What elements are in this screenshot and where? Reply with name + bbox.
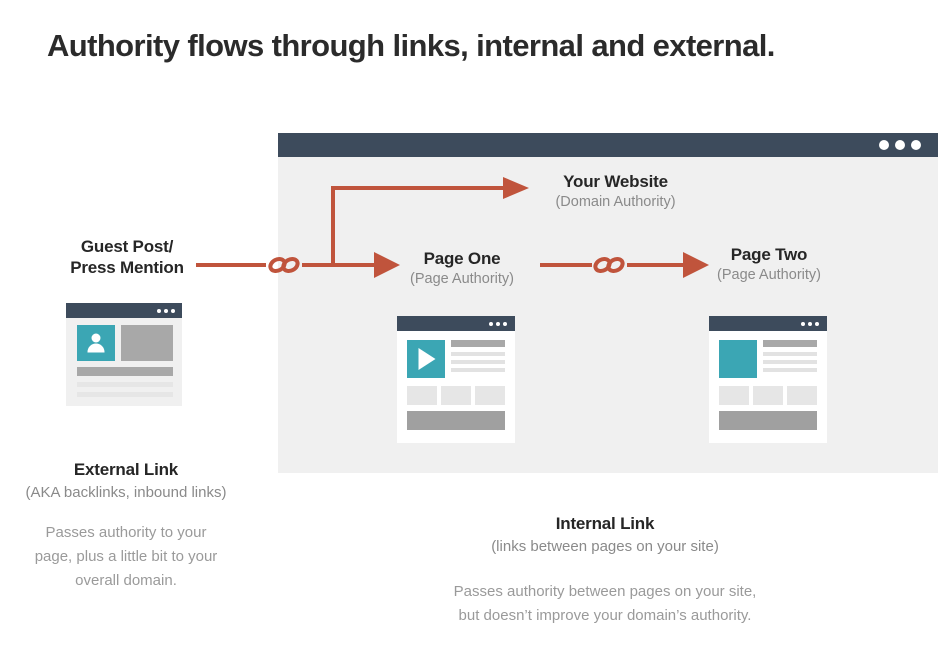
content-bar <box>763 352 817 356</box>
avatar-thumbnail <box>77 325 115 361</box>
content-card <box>407 386 437 405</box>
browser-titlebar <box>278 133 938 157</box>
content-footer-bar <box>719 411 817 430</box>
page-title: Authority flows through links, internal … <box>47 28 775 64</box>
mockup-titlebar <box>397 316 515 331</box>
content-bar <box>451 360 505 364</box>
play-icon <box>418 348 435 370</box>
content-card <box>475 386 505 405</box>
node-label-your-website: Your Website (Domain Authority) <box>513 171 718 212</box>
node-label-page-two: Page Two (Page Authority) <box>690 244 848 285</box>
your-website-title: Your Website <box>513 171 718 192</box>
internal-link-heading: Internal Link <box>370 512 840 535</box>
mockup-titlebar <box>66 303 182 318</box>
external-desc-line2: page, plus a little bit to your <box>6 545 246 569</box>
page-one-title: Page One <box>383 248 541 269</box>
node-label-page-one: Page One (Page Authority) <box>383 248 541 289</box>
window-controls-dots-icon <box>157 309 175 313</box>
node-label-guest-post: Guest Post/ Press Mention <box>47 236 207 278</box>
page-one-site-mockup <box>397 316 515 443</box>
guest-post-line2: Press Mention <box>47 257 207 278</box>
content-bar <box>451 340 505 347</box>
window-controls-dots-icon <box>801 322 819 326</box>
content-card <box>719 386 749 405</box>
content-block <box>121 325 173 361</box>
content-card <box>753 386 783 405</box>
content-bar <box>763 368 817 372</box>
image-thumbnail <box>719 340 757 378</box>
content-bar <box>77 382 173 387</box>
your-website-subtitle: (Domain Authority) <box>513 192 718 212</box>
mockup-titlebar <box>709 316 827 331</box>
content-bar <box>77 392 173 397</box>
content-bar <box>451 368 505 372</box>
guest-post-line1: Guest Post/ <box>47 236 207 257</box>
content-bar <box>763 340 817 347</box>
content-card <box>441 386 471 405</box>
page-two-subtitle: (Page Authority) <box>690 265 848 285</box>
page-two-title: Page Two <box>690 244 848 265</box>
internal-desc-line2: but doesn’t improve your domain’s author… <box>370 604 840 628</box>
external-desc-line3: overall domain. <box>6 569 246 593</box>
content-footer-bar <box>407 411 505 430</box>
guest-post-site-mockup <box>66 303 182 406</box>
external-link-heading: External Link <box>6 458 246 481</box>
window-controls-dots-icon <box>879 140 921 150</box>
internal-link-description: Passes authority between pages on your s… <box>370 580 840 628</box>
page-two-site-mockup <box>709 316 827 443</box>
external-desc-line1: Passes authority to your <box>6 521 246 545</box>
content-bar <box>77 367 173 376</box>
internal-link-subtitle: (links between pages on your site) <box>370 535 840 558</box>
external-link-description: Passes authority to your page, plus a li… <box>6 521 246 593</box>
content-bar <box>451 352 505 356</box>
external-link-subtitle: (AKA backlinks, inbound links) <box>6 481 246 504</box>
video-thumbnail <box>407 340 445 378</box>
internal-desc-line1: Passes authority between pages on your s… <box>370 580 840 604</box>
page-one-subtitle: (Page Authority) <box>383 269 541 289</box>
content-bar <box>763 360 817 364</box>
caption-external-link: External Link (AKA backlinks, inbound li… <box>6 458 246 593</box>
person-icon <box>88 334 105 353</box>
content-card <box>787 386 817 405</box>
window-controls-dots-icon <box>489 322 507 326</box>
caption-internal-link: Internal Link (links between pages on yo… <box>370 512 840 628</box>
